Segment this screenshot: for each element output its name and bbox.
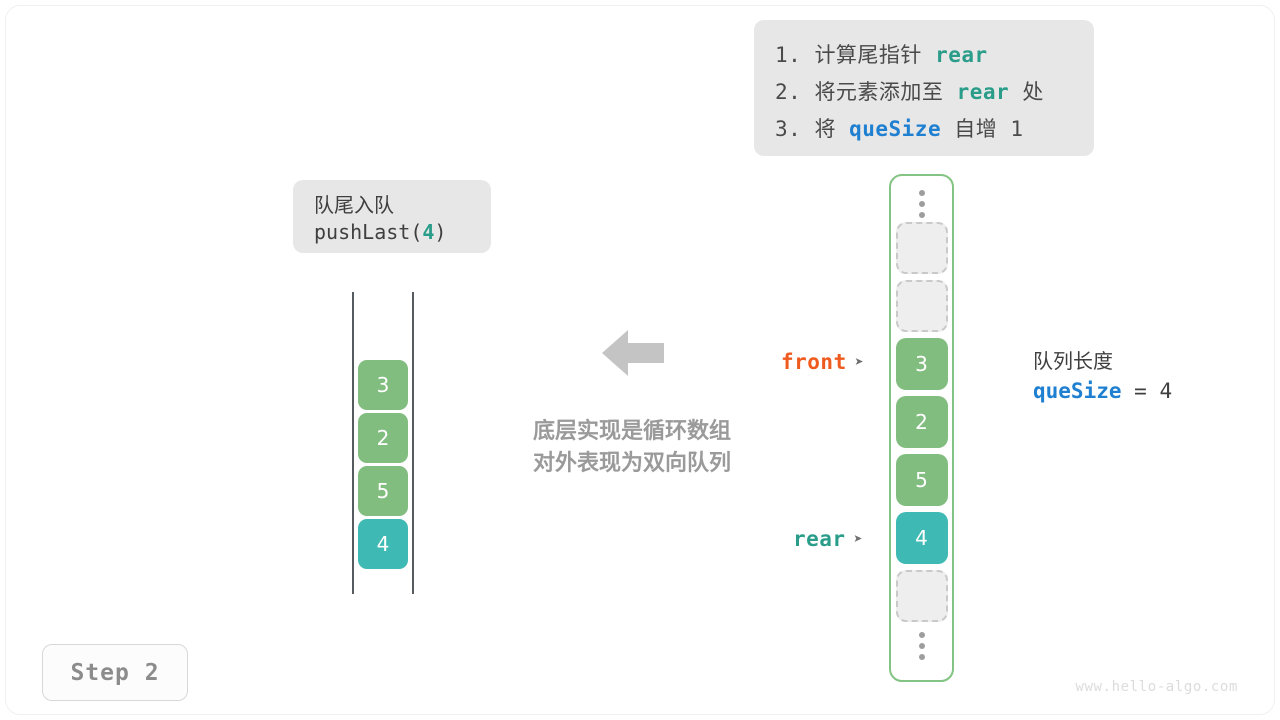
deque-cell-list: 3254 — [358, 360, 408, 572]
array-slot-filled: 3 — [896, 338, 948, 390]
steps-list: 1. 计算尾指针 rear2. 将元素添加至 rear 处3. 将 queSiz… — [775, 37, 1094, 148]
array-slot-empty — [896, 570, 948, 622]
front-pointer-caret-icon: ➤ — [855, 353, 865, 371]
front-pointer-text: front — [781, 350, 847, 374]
step-text-part: 将 — [814, 117, 849, 141]
array-slot-list: 3254 — [896, 222, 948, 628]
center-caption: 底层实现是循环数组 对外表现为双向队列 — [504, 416, 760, 480]
array-slot-filled: 5 — [896, 454, 948, 506]
step-text-part: 自增 1 — [941, 117, 1023, 141]
deque-container: 3254 — [352, 292, 414, 594]
operation-label-box: 队尾入队 pushLast(4) — [293, 180, 491, 253]
deque-cell: 2 — [358, 413, 408, 463]
watermark: www.hello-algo.com — [1075, 679, 1238, 695]
array-slot-filled: 4 — [896, 512, 948, 564]
rear-pointer-caret-icon: ➤ — [854, 530, 864, 548]
step-line: 2. 将元素添加至 rear 处 — [775, 74, 1094, 111]
step-text-part: rear — [957, 80, 1010, 104]
deque-rail-left — [352, 292, 354, 594]
array-slot-filled: 2 — [896, 396, 948, 448]
array-top-ellipsis-icon — [918, 186, 925, 222]
step-badge: Step 2 — [42, 644, 188, 701]
deque-cell: 3 — [358, 360, 408, 410]
deque-cell: 5 — [358, 466, 408, 516]
rear-pointer-text: rear — [793, 527, 846, 551]
caption-line-2: 对外表现为双向队列 — [504, 448, 760, 480]
circular-array-container: 3254 — [889, 174, 954, 682]
array-slot-empty — [896, 280, 948, 332]
front-pointer-label: front ➤ — [781, 350, 864, 374]
queue-size-var: queSize — [1033, 379, 1122, 403]
operation-title: 队尾入队 — [314, 193, 491, 218]
step-text-part: rear — [935, 43, 988, 67]
rear-pointer-label: rear ➤ — [793, 527, 863, 551]
step-line: 3. 将 queSize 自增 1 — [775, 111, 1094, 148]
step-badge-label: Step 2 — [70, 660, 159, 686]
step-text-part: 计算尾指针 — [814, 43, 935, 67]
step-index: 3. — [775, 117, 814, 141]
step-index: 1. — [775, 43, 814, 67]
arrow-left-icon — [602, 328, 664, 378]
array-slot-empty — [896, 222, 948, 274]
queue-size-label: 队列长度 queSize = 4 — [1033, 347, 1172, 407]
step-text-part: 处 — [1009, 80, 1044, 104]
diagram-canvas: 队尾入队 pushLast(4) 1. 计算尾指针 rear2. 将元素添加至 … — [6, 6, 1274, 714]
operation-call-suffix: ) — [434, 220, 446, 244]
operation-call-prefix: pushLast( — [314, 220, 422, 244]
queue-size-title: 队列长度 — [1033, 347, 1172, 375]
step-index: 2. — [775, 80, 814, 104]
caption-line-1: 底层实现是循环数组 — [504, 416, 760, 448]
deque-rail-right — [412, 292, 414, 594]
steps-note-box: 1. 计算尾指针 rear2. 将元素添加至 rear 处3. 将 queSiz… — [754, 20, 1094, 156]
step-text-part: 将元素添加至 — [814, 80, 956, 104]
deque-cell: 4 — [358, 519, 408, 569]
array-bottom-ellipsis-icon — [918, 628, 925, 664]
step-text-part: queSize — [849, 117, 941, 141]
operation-call: pushLast(4) — [314, 218, 491, 246]
queue-size-value: = 4 — [1122, 379, 1173, 403]
step-line: 1. 计算尾指针 rear — [775, 37, 1094, 74]
queue-size-equation: queSize = 4 — [1033, 375, 1172, 407]
operation-call-arg: 4 — [422, 220, 434, 244]
